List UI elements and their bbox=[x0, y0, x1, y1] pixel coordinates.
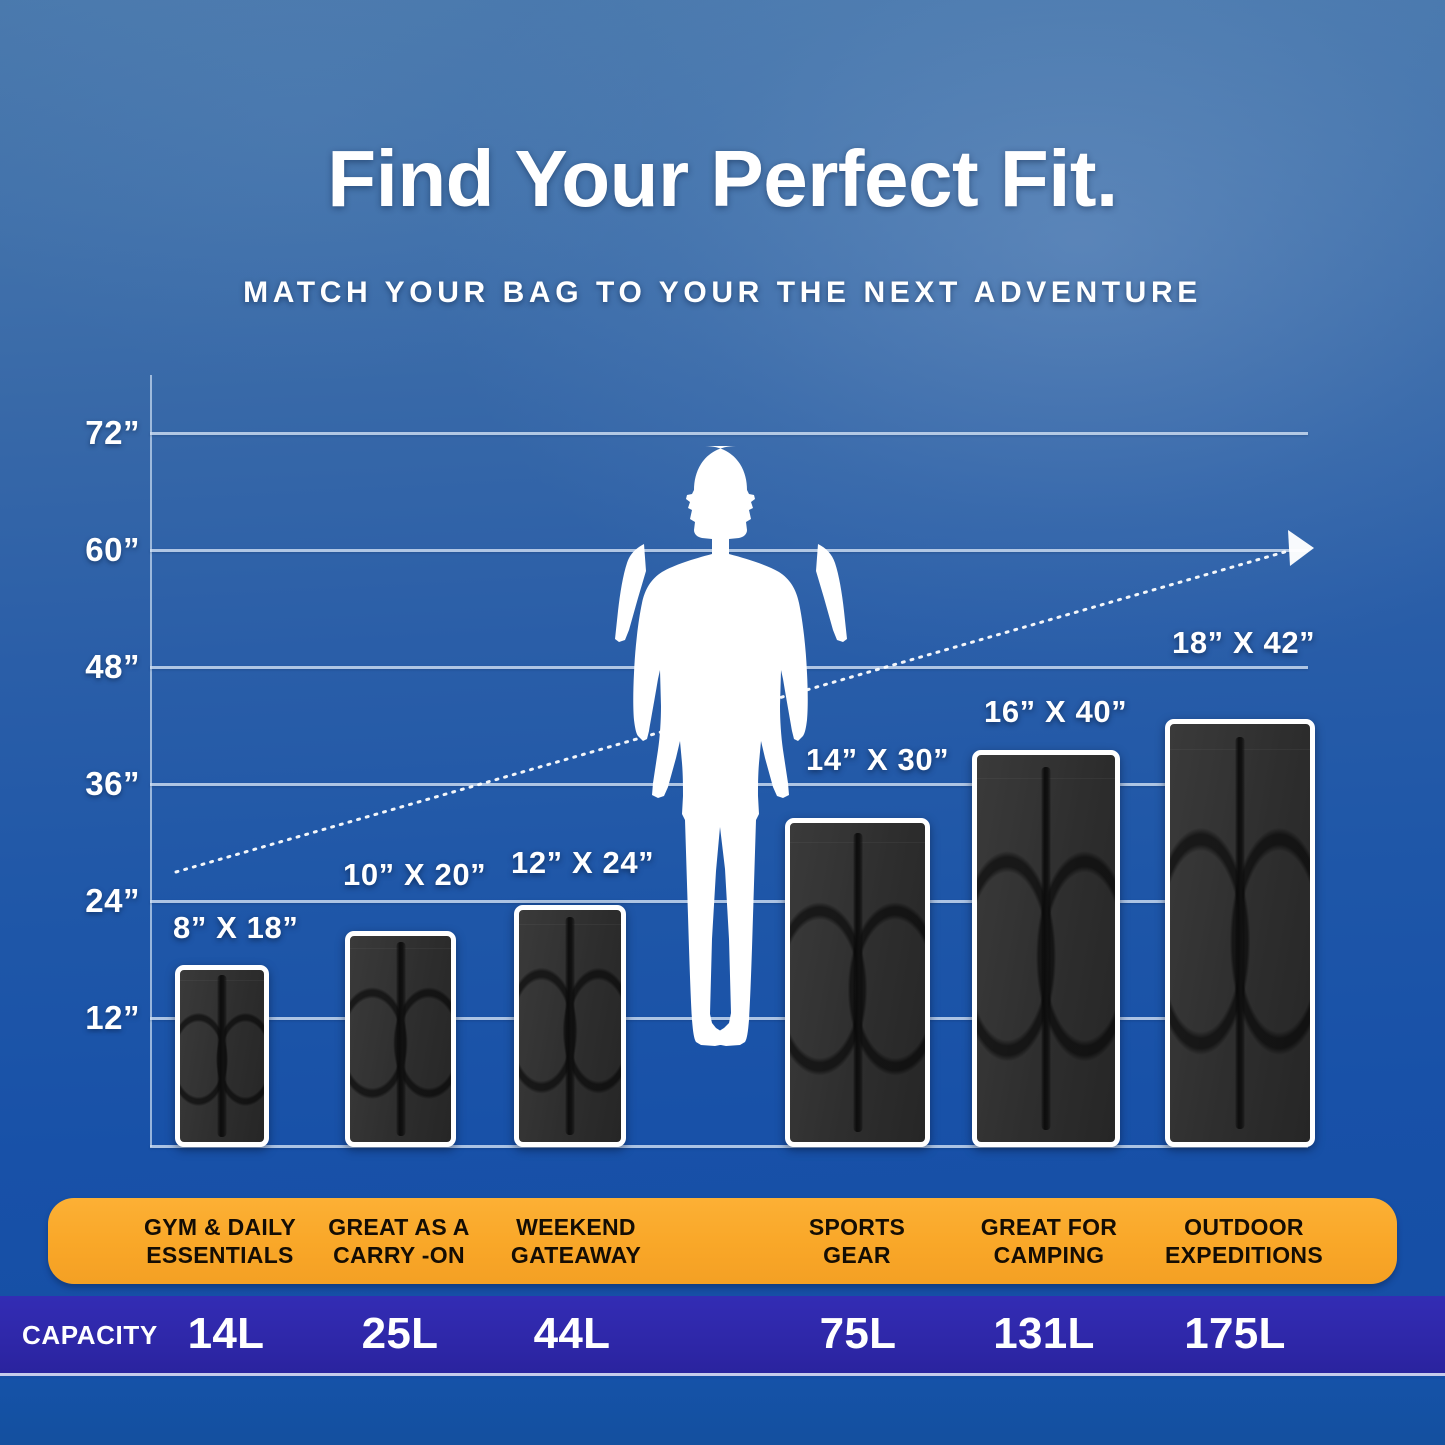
category-line-2: GEAR bbox=[823, 1241, 891, 1269]
category-line-2: CARRY -ON bbox=[333, 1241, 465, 1269]
bag-1[interactable] bbox=[175, 965, 269, 1147]
capacity-value-6: 175L bbox=[1155, 1309, 1315, 1359]
category-line-1: GYM & DAILY bbox=[144, 1213, 296, 1241]
bag-4[interactable] bbox=[785, 818, 930, 1147]
category-line-2: ESSENTIALS bbox=[146, 1241, 293, 1269]
category-2[interactable]: GREAT AS A CARRY -ON bbox=[312, 1198, 486, 1284]
capacity-value-3: 44L bbox=[498, 1309, 646, 1359]
category-4[interactable]: SPORTS GEAR bbox=[774, 1198, 940, 1284]
bag-dimension-label-6: 18” X 42” bbox=[1172, 625, 1315, 661]
category-line-2: CAMPING bbox=[994, 1241, 1105, 1269]
y-tick-label: 24” bbox=[20, 882, 140, 920]
gridline-72 bbox=[150, 432, 1308, 435]
bag-dimension-label-2: 10” X 20” bbox=[343, 857, 486, 893]
category-line-2: EXPEDITIONS bbox=[1165, 1241, 1323, 1269]
bag-zipper bbox=[396, 942, 405, 1136]
bag-zipper bbox=[566, 917, 575, 1135]
bag-dimension-label-4: 14” X 30” bbox=[806, 742, 949, 778]
bag-dimension-label-5: 16” X 40” bbox=[984, 694, 1127, 730]
category-6[interactable]: OUTDOOR EXPEDITIONS bbox=[1148, 1198, 1340, 1284]
category-5[interactable]: GREAT FOR CAMPING bbox=[960, 1198, 1138, 1284]
bag-2[interactable] bbox=[345, 931, 456, 1147]
category-3[interactable]: WEEKEND GATEAWAY bbox=[490, 1198, 662, 1284]
capacity-value-5: 131L bbox=[964, 1309, 1124, 1359]
category-line-1: WEEKEND bbox=[516, 1213, 636, 1241]
y-tick-label: 36” bbox=[20, 765, 140, 803]
bag-zipper bbox=[1042, 767, 1051, 1131]
infographic-root: Find Your Perfect Fit. MATCH YOUR BAG TO… bbox=[0, 0, 1445, 1445]
y-axis-line bbox=[150, 375, 152, 1147]
bag-zipper bbox=[1236, 737, 1245, 1130]
y-tick-label: 72” bbox=[20, 414, 140, 452]
bag-zipper bbox=[853, 833, 862, 1133]
capacity-value-1: 14L bbox=[152, 1309, 300, 1359]
category-line-1: OUTDOOR bbox=[1184, 1213, 1304, 1241]
category-line-1: SPORTS bbox=[809, 1213, 905, 1241]
capacity-value-4: 75L bbox=[784, 1309, 932, 1359]
bag-3[interactable] bbox=[514, 905, 626, 1147]
y-tick-label: 48” bbox=[20, 648, 140, 686]
capacity-value-2: 25L bbox=[326, 1309, 474, 1359]
category-line-2: GATEAWAY bbox=[511, 1241, 641, 1269]
bottom-strip bbox=[0, 1379, 1445, 1445]
bag-dimension-label-1: 8” X 18” bbox=[173, 910, 298, 946]
category-1[interactable]: GYM & DAILY ESSENTIALS bbox=[130, 1198, 310, 1284]
category-line-1: GREAT AS A bbox=[328, 1213, 469, 1241]
bag-zipper bbox=[218, 975, 227, 1137]
capacity-label: CAPACITY bbox=[22, 1320, 158, 1351]
y-tick-label: 12” bbox=[20, 999, 140, 1037]
category-line-1: GREAT FOR bbox=[981, 1213, 1117, 1241]
bag-6[interactable] bbox=[1165, 719, 1315, 1147]
bag-5[interactable] bbox=[972, 750, 1120, 1147]
y-tick-label: 60” bbox=[20, 531, 140, 569]
bag-dimension-label-3: 12” X 24” bbox=[511, 845, 654, 881]
